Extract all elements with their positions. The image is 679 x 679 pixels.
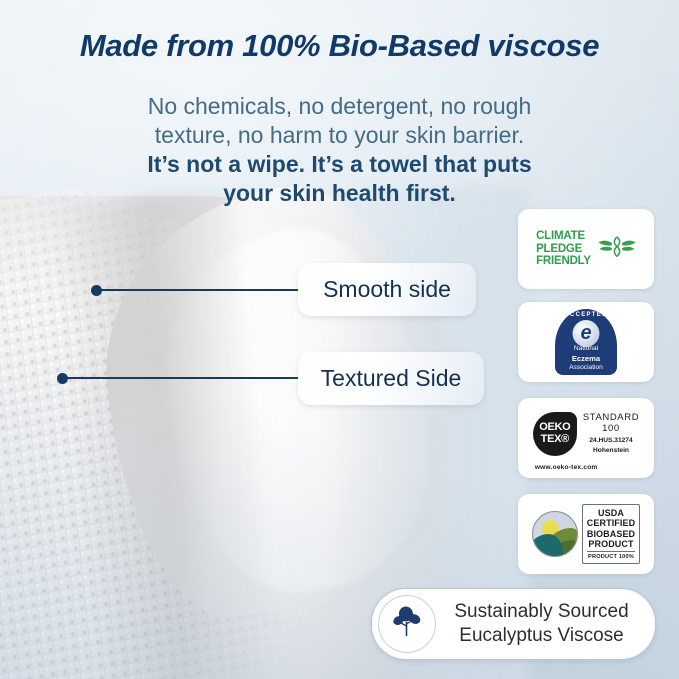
oeko-tex-logo-line-1: OEKO (539, 422, 570, 433)
usda-line-4: PRODUCT (587, 539, 635, 549)
oeko-tex-content: OEKO TEX® STANDARD 100 24.HUS.31274 Hohe… (533, 412, 639, 465)
oeko-tex-standard: STANDARD (583, 412, 639, 423)
badge-oeko-tex: OEKO TEX® STANDARD 100 24.HUS.31274 Hohe… (518, 398, 654, 478)
usda-content: USDA CERTIFIED BIOBASED PRODUCT PRODUCT … (532, 504, 640, 564)
usda-footnote: PRODUCT 100% (587, 551, 635, 560)
eczema-line-3: Association (555, 364, 617, 372)
climate-pledge-line-2: PLEDGE (536, 243, 591, 256)
eczema-wordmark: National Eczema Association (555, 345, 617, 372)
subtitle-bold-line-2: your skin health first. (0, 179, 679, 208)
oeko-tex-logo-line-2: TEX® (541, 434, 569, 445)
eucalyptus-banner-text: Sustainably Sourced Eucalyptus Viscose (436, 600, 655, 648)
eczema-line-2: Eczema (555, 354, 617, 364)
callout-line-smooth-side (100, 289, 305, 291)
oeko-tex-number: 100 (583, 423, 639, 434)
eczema-accepted-label: ACCEPTED (555, 312, 617, 318)
badge-climate-pledge-friendly: CLIMATE PLEDGE FRIENDLY (518, 209, 654, 289)
oeko-tex-certificate: 24.HUS.31274 (583, 437, 639, 445)
subtitle-line-1: No chemicals, no detergent, no rough (148, 93, 532, 119)
usda-landscape-icon (532, 511, 578, 557)
callout-line-textured-side (66, 377, 305, 379)
eczema-monogram: e (573, 320, 600, 347)
eczema-seal: ACCEPTED e National Eczema Association (555, 309, 617, 375)
oeko-tex-institute: Hohenstein (583, 447, 639, 455)
usda-textbox: USDA CERTIFIED BIOBASED PRODUCT PRODUCT … (582, 504, 640, 564)
badge-national-eczema-association: ACCEPTED e National Eczema Association (518, 302, 654, 382)
eucalyptus-icon-circle (378, 595, 436, 653)
climate-pledge-line-1: CLIMATE (536, 230, 591, 243)
oeko-tex-url: www.oeko-tex.com (535, 464, 598, 471)
product-infographic: Made from 100% Bio-Based viscose No chem… (0, 0, 679, 679)
usda-line-3: BIOBASED (587, 529, 635, 539)
badge-usda-biobased: USDA CERTIFIED BIOBASED PRODUCT PRODUCT … (518, 494, 654, 574)
oeko-tex-logo: OEKO TEX® (533, 412, 577, 456)
climate-pledge-content: CLIMATE PLEDGE FRIENDLY (536, 230, 636, 269)
subtitle-block: No chemicals, no detergent, no rough tex… (0, 92, 679, 208)
subtitle-bold-line-1: It’s not a wipe. It’s a towel that puts (0, 150, 679, 179)
usda-line-1: USDA (587, 508, 635, 518)
climate-pledge-text: CLIMATE PLEDGE FRIENDLY (536, 230, 591, 269)
eucalyptus-line-1: Sustainably Sourced (436, 600, 647, 624)
callout-label-smooth-side: Smooth side (298, 263, 476, 316)
page-title: Made from 100% Bio-Based viscose (0, 28, 679, 64)
oeko-tex-details: STANDARD 100 24.HUS.31274 Hohenstein (583, 412, 639, 455)
usda-line-2: CERTIFIED (587, 518, 635, 528)
climate-pledge-line-3: FRIENDLY (536, 255, 591, 268)
eucalyptus-line-2: Eucalyptus Viscose (436, 624, 647, 648)
eucalyptus-leaf-icon (390, 605, 424, 644)
eczema-line-1: National (555, 345, 617, 353)
callout-label-textured-side: Textured Side (298, 352, 484, 405)
eucalyptus-banner: Sustainably Sourced Eucalyptus Viscose (371, 588, 656, 660)
subtitle-line-2: texture, no harm to your skin barrier. (155, 122, 524, 148)
winged-hourglass-icon (598, 233, 636, 266)
